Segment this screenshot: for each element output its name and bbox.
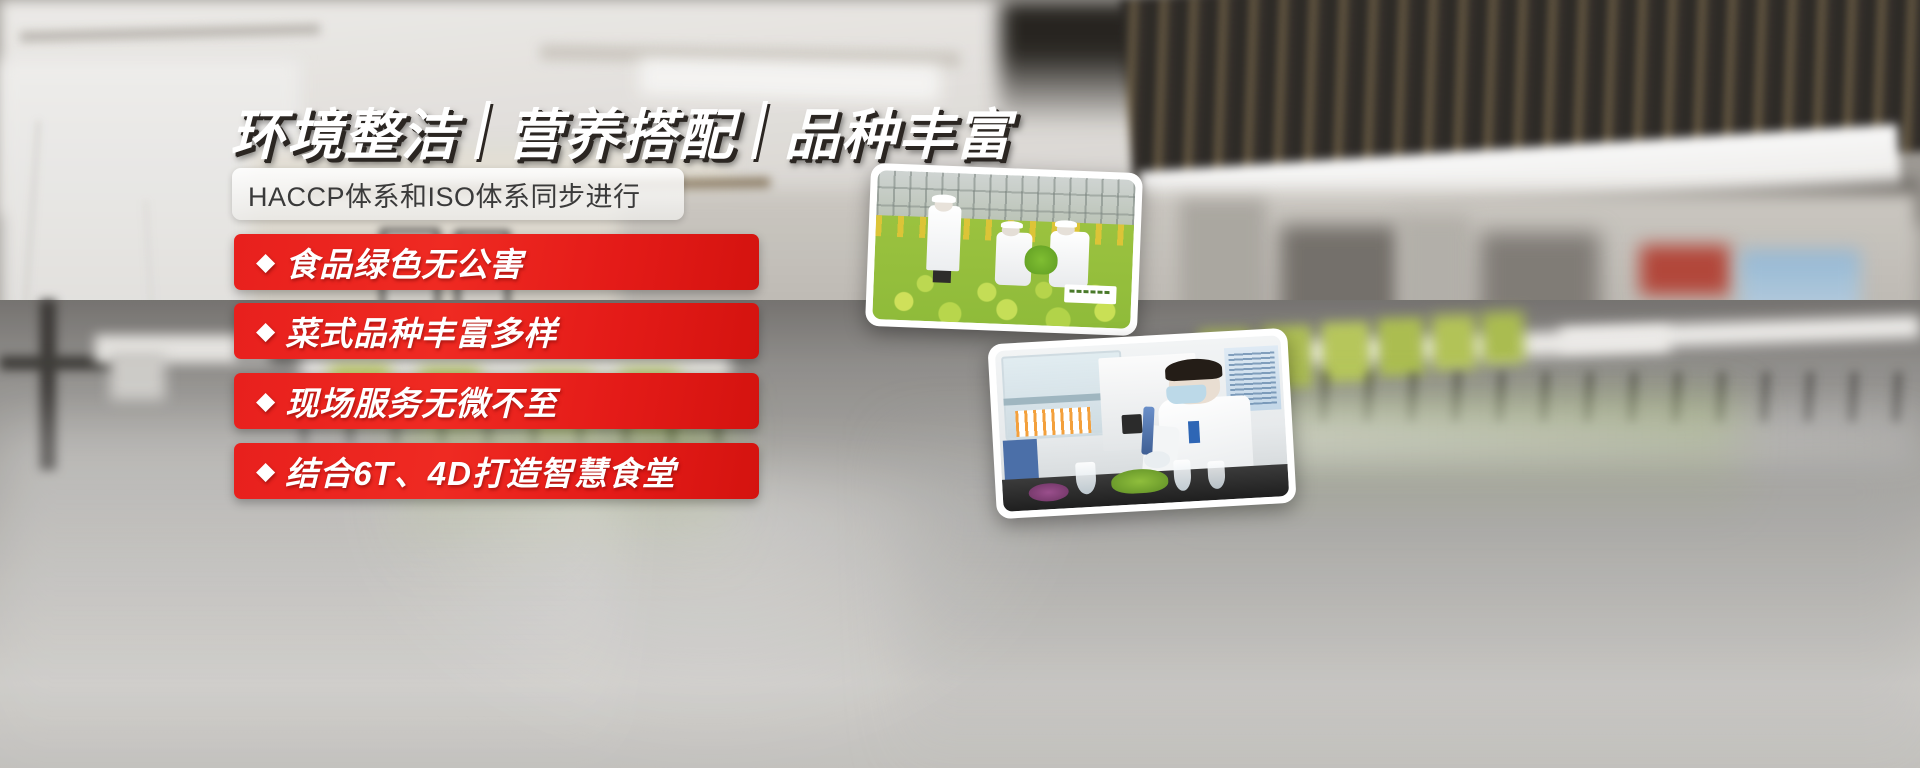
feature-bar-label: 现场服务无微不至 [285,377,557,425]
laboratory-testing-photo[interactable] [987,328,1296,519]
feature-bar-4[interactable]: ◆ 结合6T、4D打造智慧食堂 [234,443,759,499]
harvested-lettuce-bunch [1024,244,1059,275]
feature-bar-label: 食品绿色无公害 [285,238,523,286]
technician-badge [1188,420,1201,443]
worker-3-cap [1055,220,1077,228]
technician-face-mask [1166,384,1207,404]
headline-segment-3: 品种丰富 [782,90,1014,170]
laboratory-photo-inner [995,335,1290,512]
feature-bar-3[interactable]: ◆ 现场服务无微不至 [234,373,759,429]
cabinet-control-panel [1121,414,1142,434]
greenhouse-inspection-photo[interactable] [865,163,1143,336]
headline-separator-1 [474,101,491,159]
banner-headline: 环境整洁 营养搭配 品种丰富 [228,90,1014,170]
banner-subtitle-pill: HACCP体系和ISO体系同步进行 [232,168,684,220]
feature-bar-label: 结合6T、4D打造智慧食堂 [285,447,676,495]
diamond-bullet-icon: ◆ [256,250,276,275]
feature-bar-1[interactable]: ◆ 食品绿色无公害 [234,234,759,290]
headline-segment-1: 环境整洁 [228,90,460,170]
headline-separator-2 [751,101,768,159]
blue-equipment-panel [1003,439,1040,483]
worker-1-labcoat [926,205,962,272]
feature-bar-2[interactable]: ◆ 菜式品种丰富多样 [234,303,759,359]
test-tube-rack [1015,407,1091,437]
headline-segment-2: 营养搭配 [505,90,737,170]
worker-1-cap [932,195,955,203]
feature-bar-label: 菜式品种丰富多样 [285,307,557,355]
diamond-bullet-icon: ◆ [256,459,276,484]
diamond-bullet-icon: ◆ [256,319,276,344]
worker-2-cap [1001,221,1023,229]
greenhouse-photo-inner [872,170,1136,329]
diamond-bullet-icon: ◆ [256,389,276,414]
